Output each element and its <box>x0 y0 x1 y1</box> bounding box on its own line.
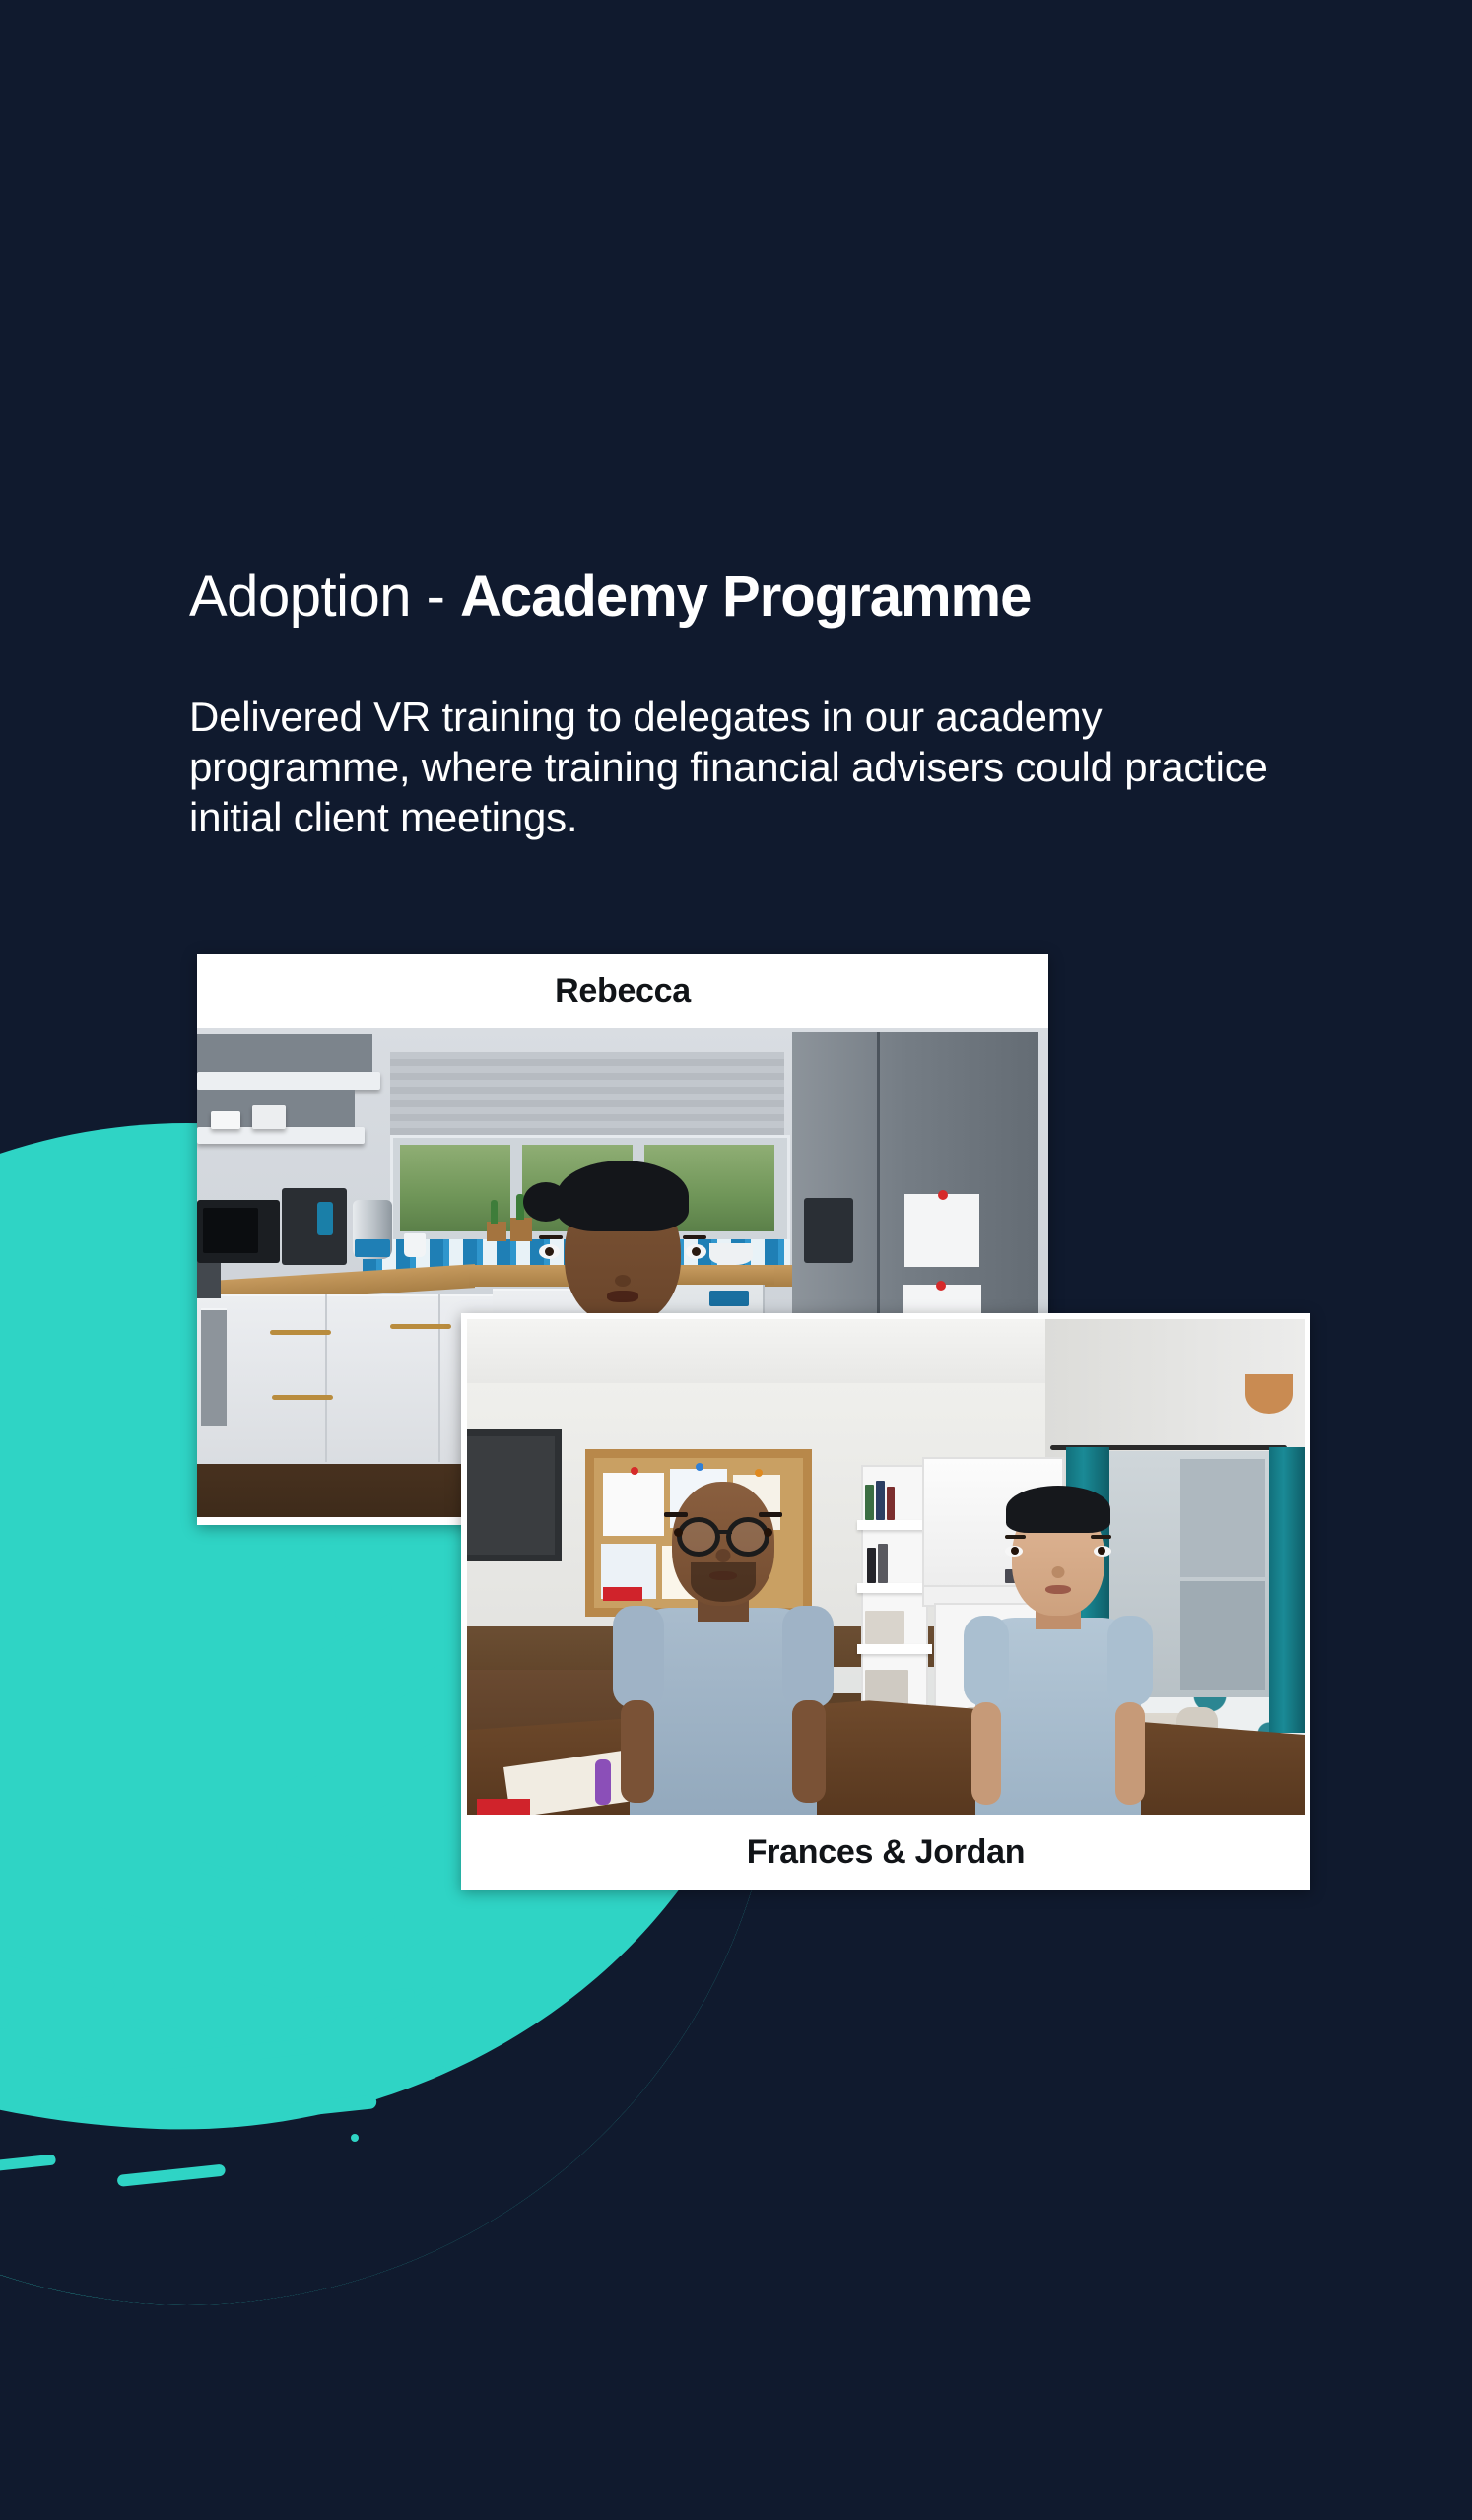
slide-title-prefix: Adoption - <box>189 564 460 629</box>
avatar-frances <box>615 1480 832 1815</box>
slide-canvas: Adoption - Academy Programme Delivered V… <box>0 0 1472 2520</box>
photo-caption-rebecca: Rebecca <box>197 954 1048 1028</box>
photo-caption-frances-jordan: Frances & Jordan <box>461 1815 1310 1890</box>
slide-title-emphasis: Academy Programme <box>460 564 1031 629</box>
avatar-jordan <box>960 1490 1157 1815</box>
vr-living-room-scene <box>467 1319 1305 1815</box>
glasses-icon <box>677 1517 769 1551</box>
photo-card-frances-jordan[interactable]: Frances & Jordan <box>461 1313 1310 1890</box>
slide-title: Adoption - Academy Programme <box>189 566 1031 627</box>
slide-body-text: Delivered VR training to delegates in ou… <box>189 692 1293 843</box>
